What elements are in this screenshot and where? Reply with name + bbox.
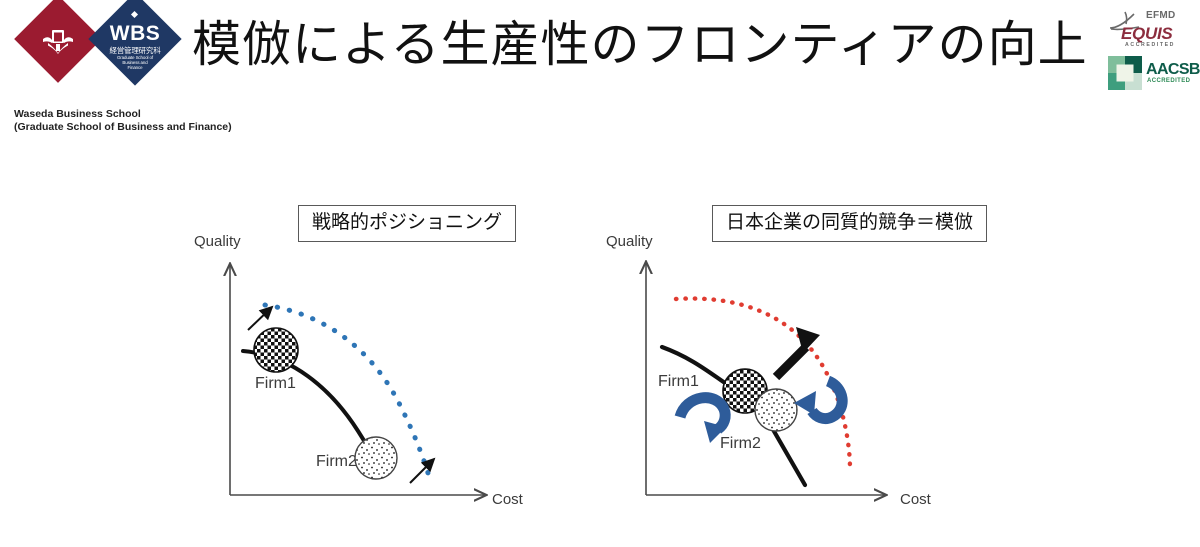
chart-graphic-left [180, 195, 580, 535]
equis-label: EQUIS [1121, 24, 1172, 44]
school-name: Waseda Business School (Graduate School … [14, 108, 232, 134]
chart-panel-homogeneous-competition: 日本企業の同質的競争＝模倣 Quality Cost Firm1 Firm2 [600, 195, 1020, 535]
chart-graphic-right [600, 195, 1020, 535]
aacsb-label: AACSB [1146, 61, 1200, 79]
firm1-improvement-arrow-left [248, 307, 272, 330]
firm2-marker-left [355, 437, 397, 479]
aacsb-accredited-label: ACCREDITED [1147, 78, 1190, 84]
chart-panel-strategic-positioning: 戦略的ポジショニング Quality Cost Firm1 Firm2 [180, 195, 580, 535]
accreditation-logos: EFMD EQUIS ACCREDITED AACSB ACCREDITED [1106, 4, 1198, 94]
firm2-improvement-arrow-left [410, 459, 434, 483]
imitation-loop-arrow-right-right-panel [794, 381, 842, 419]
efmd-label: EFMD [1146, 10, 1176, 21]
axes-right [646, 263, 885, 495]
equis-accredited-label: ACCREDITED [1125, 42, 1175, 48]
aacsb-logo: AACSB ACCREDITED [1106, 54, 1198, 94]
improved-frontier-curve-left [265, 305, 428, 473]
page-title: 模倣による生産性のフロンティアの向上 [192, 8, 1088, 82]
equis-logo: EFMD EQUIS ACCREDITED [1106, 4, 1198, 52]
slide-header: WBS 経営管理研究科 Graduate School of Business … [0, 0, 1200, 140]
aacsb-tile-icon [1108, 56, 1142, 90]
firm1-marker-left [254, 328, 298, 372]
firm-trajectory-line-right [662, 347, 728, 385]
imitation-loop-arrow-left-right-panel [680, 398, 726, 443]
waseda-logo-diamond [14, 0, 102, 83]
firm2-marker-right [755, 389, 797, 431]
